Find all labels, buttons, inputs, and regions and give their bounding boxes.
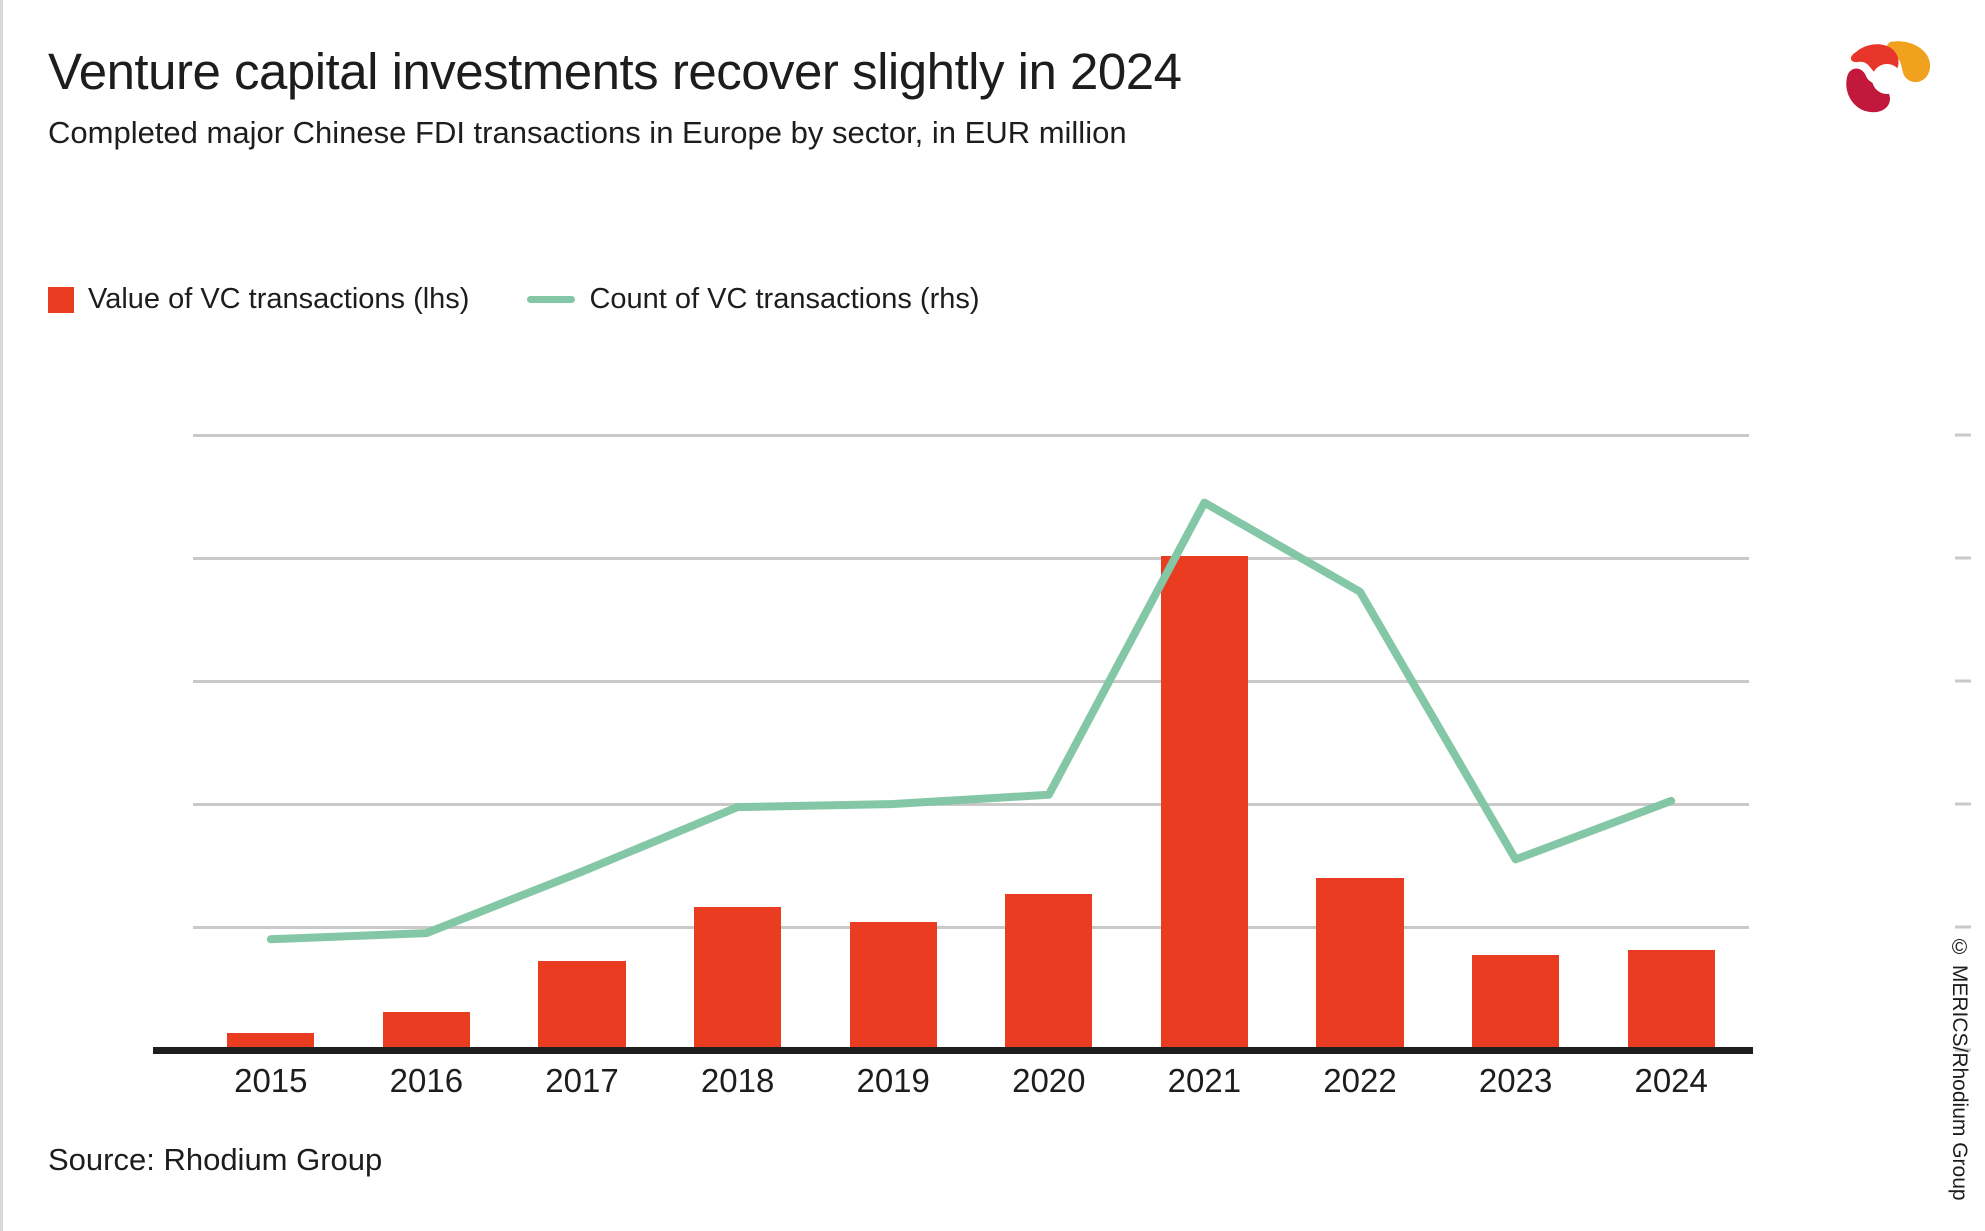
x-tick-label-2021: 2021: [1168, 1062, 1241, 1100]
y-tick-mark-right: [1955, 557, 1971, 560]
legend-item-value[interactable]: Value of VC transactions (lhs): [48, 283, 469, 316]
x-axis-baseline: [153, 1047, 1753, 1054]
x-tick-label-2022: 2022: [1323, 1062, 1396, 1100]
legend-label-count: Count of VC transactions (rhs): [589, 283, 979, 316]
x-tick-label-2018: 2018: [701, 1062, 774, 1100]
y-tick-mark-right: [1955, 926, 1971, 929]
line-series: [193, 435, 1749, 1050]
page-title: Venture capital investments recover slig…: [48, 42, 1181, 101]
legend-line-swatch-icon: [527, 296, 575, 303]
x-tick-label-2020: 2020: [1012, 1062, 1085, 1100]
legend-item-count[interactable]: Count of VC transactions (rhs): [527, 283, 979, 316]
source-note: Source: Rhodium Group: [48, 1142, 382, 1178]
x-tick-label-2015: 2015: [234, 1062, 307, 1100]
y-tick-mark-right: [1955, 434, 1971, 437]
x-axis-labels: 2015201620172018201920202021202220232024: [193, 1062, 1749, 1112]
copyright-credit: © MERICS/Rhodium Group: [1947, 936, 1971, 1201]
plot-area: 05001,0001,5002,0002,500 04080120160200: [193, 435, 1749, 1050]
x-tick-label-2024: 2024: [1634, 1062, 1707, 1100]
chart-legend: Value of VC transactions (lhs) Count of …: [48, 283, 980, 316]
chart-figure: Venture capital investments recover slig…: [0, 0, 1985, 1231]
left-edge-rule: [0, 0, 3, 1231]
x-tick-label-2019: 2019: [856, 1062, 929, 1100]
y-tick-mark-right: [1955, 680, 1971, 683]
y-tick-mark-right: [1955, 803, 1971, 806]
line-path: [271, 503, 1671, 940]
legend-bar-swatch-icon: [48, 287, 74, 313]
x-tick-label-2023: 2023: [1479, 1062, 1552, 1100]
merics-logo: [1840, 38, 1936, 118]
page-subtitle: Completed major Chinese FDI transactions…: [48, 115, 1127, 151]
x-tick-label-2017: 2017: [545, 1062, 618, 1100]
x-tick-label-2016: 2016: [390, 1062, 463, 1100]
legend-label-value: Value of VC transactions (lhs): [88, 283, 469, 316]
